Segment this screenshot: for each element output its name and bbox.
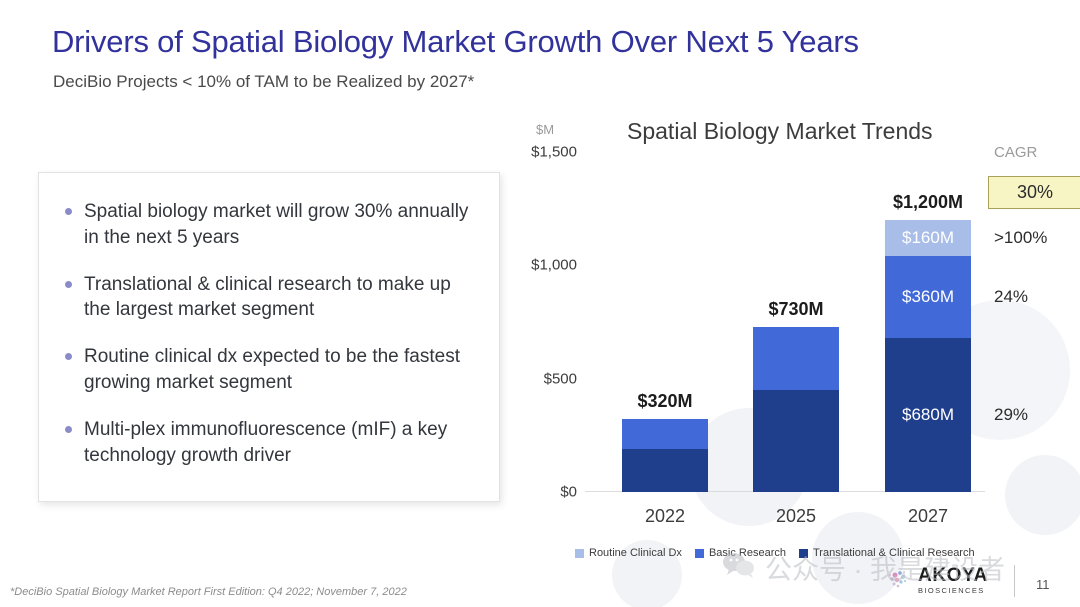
list-item: Spatial biology market will grow 30% ann… [57,199,475,251]
x-axis-tick-label: 2027 [908,506,948,527]
page-subtitle: DeciBio Projects < 10% of TAM to be Real… [53,72,474,92]
legend-label: Basic Research [709,547,786,559]
chart-legend: Routine Clinical DxBasic ResearchTransla… [575,547,975,559]
slide: Drivers of Spatial Biology Market Growth… [0,0,1080,607]
y-axis-tick-label: $1,500 [531,144,577,161]
legend-item[interactable]: Basic Research [695,547,786,559]
akoya-mark-icon [886,567,912,593]
list-item-label: Translational & clinical research to mak… [84,272,475,324]
cagr-total-badge: 30% [988,176,1080,209]
bar-segment[interactable] [753,390,839,492]
bar-group-2027[interactable]: $160M$360M$680M$1,200M2027 [885,220,971,492]
bar-segment-label: $360M [902,287,954,307]
legend-label: Translational & Clinical Research [813,547,975,559]
y-axis-tick-label: $1,000 [531,257,577,274]
list-item: Multi-plex immunofluorescence (mIF) a ke… [57,417,475,469]
bar-segment[interactable] [622,449,708,492]
page-number: 11 [1036,577,1050,592]
chart-unit-label: $M [536,122,554,137]
list-item-label: Routine clinical dx expected to be the f… [84,344,475,396]
cagr-value: 29% [994,405,1028,425]
akoya-logo-sub: BIOSCIENCES [918,587,988,595]
y-axis-tick-label: $0 [560,484,577,501]
y-axis-tick-label: $500 [544,370,577,387]
legend-swatch [575,549,584,558]
akoya-logo: AKOYA BIOSCIENCES [886,566,988,595]
bar-total-label: $730M [768,299,823,320]
footer-divider [1014,565,1015,597]
key-points-card: Spatial biology market will grow 30% ann… [38,172,500,502]
bullet-dot-icon [65,426,72,433]
list-item: Routine clinical dx expected to be the f… [57,344,475,396]
footnote: *DeciBio Spatial Biology Market Report F… [10,586,407,598]
cagr-value: >100% [994,228,1047,248]
legend-item[interactable]: Routine Clinical Dx [575,547,682,559]
bar-segment[interactable]: $160M [885,220,971,256]
bar-segment[interactable]: $360M [885,256,971,338]
bullet-dot-icon [65,353,72,360]
cagr-value: 24% [994,287,1028,307]
bar-segment[interactable] [622,419,708,448]
bullet-dot-icon [65,281,72,288]
bar-group-2022[interactable]: $320M2022 [622,419,708,492]
chart-container: $M Spatial Biology Market Trends CAGR $0… [520,110,1080,580]
list-item-label: Spatial biology market will grow 30% ann… [84,199,475,251]
bar-segment[interactable] [753,327,839,390]
bar-total-label: $1,200M [893,192,963,213]
plot-area: $0$500$1,000$1,500$320M2022$730M2025$160… [585,152,985,492]
akoya-logo-text: AKOYA BIOSCIENCES [918,566,988,595]
legend-item[interactable]: Translational & Clinical Research [799,547,975,559]
legend-swatch [799,549,808,558]
bullet-dot-icon [65,208,72,215]
bar-total-label: $320M [637,391,692,412]
akoya-logo-name: AKOYA [918,566,988,585]
list-item-label: Multi-plex immunofluorescence (mIF) a ke… [84,417,475,469]
bar-segment[interactable]: $680M [885,338,971,492]
bar-segment-label: $160M [902,228,954,248]
bar-segment-label: $680M [902,405,954,425]
chart-title: Spatial Biology Market Trends [627,118,933,145]
x-axis-tick-label: 2025 [776,506,816,527]
list-item: Translational & clinical research to mak… [57,272,475,324]
bar-group-2025[interactable]: $730M2025 [753,327,839,492]
cagr-column-header: CAGR [994,144,1037,161]
legend-swatch [695,549,704,558]
x-axis-tick-label: 2022 [645,506,685,527]
legend-label: Routine Clinical Dx [589,547,682,559]
page-title: Drivers of Spatial Biology Market Growth… [52,24,859,60]
